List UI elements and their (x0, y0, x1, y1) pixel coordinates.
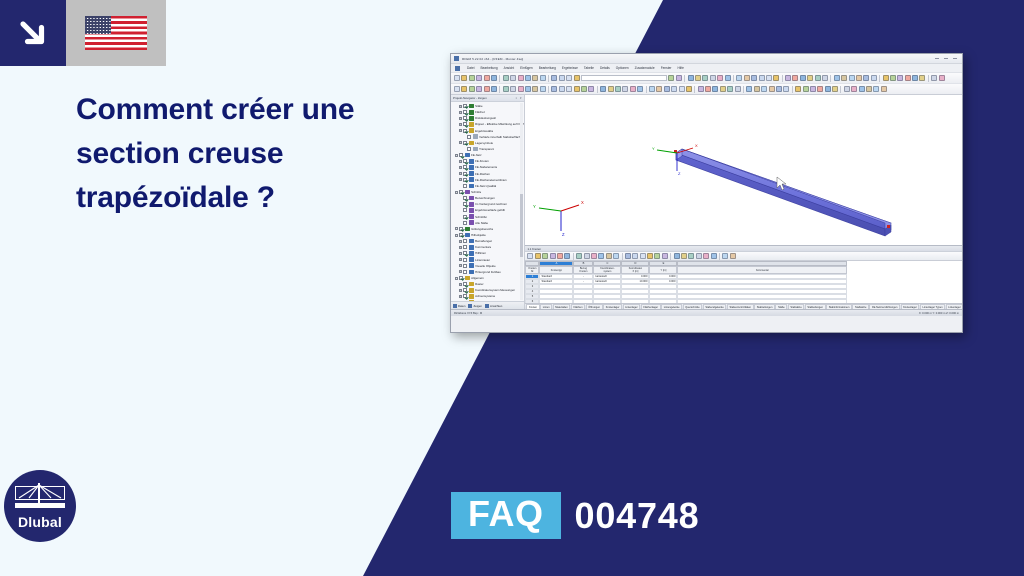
tree-item-icon (469, 288, 474, 293)
tree-expander-icon[interactable]: + (459, 283, 462, 286)
main-toolbar[interactable] (451, 73, 962, 84)
tree-item-icon (469, 282, 474, 287)
toolbar-button[interactable] (751, 75, 757, 81)
toolbar-button[interactable] (668, 75, 674, 81)
toolbar-button[interactable] (676, 75, 682, 81)
tree-checkbox[interactable] (463, 159, 467, 163)
toolbar-button[interactable] (720, 86, 726, 92)
tree-item-label: Koordinatensystem Messungen (475, 288, 515, 292)
toolbar-button[interactable] (810, 86, 816, 92)
toolbar-button[interactable] (566, 86, 572, 92)
tree-expander-icon[interactable]: + (459, 240, 462, 243)
svg-text:X: X (695, 143, 698, 148)
table-tab[interactable]: FE-Netzverdichtungen (869, 304, 900, 309)
toolbar-button[interactable] (841, 75, 847, 81)
tree-checkbox[interactable] (463, 208, 467, 212)
table-tab[interactable]: Stabsätze (788, 304, 805, 309)
toolbar-button[interactable] (608, 86, 614, 92)
tree-checkbox[interactable] (463, 239, 467, 243)
tree-checkbox[interactable] (463, 288, 467, 292)
toolbar-button[interactable] (525, 75, 531, 81)
toolbar-button[interactable] (606, 253, 612, 259)
navigator-scrollbar[interactable] (520, 103, 523, 300)
tree-checkbox[interactable] (463, 215, 467, 219)
toolbar-button[interactable] (535, 253, 541, 259)
toolbar-button[interactable] (491, 75, 497, 81)
table-tab[interactable]: Öffnungen (586, 304, 603, 309)
toolbar-button[interactable] (564, 253, 570, 259)
tree-expander-icon[interactable]: + (459, 160, 462, 163)
toolbar-button[interactable] (712, 86, 718, 92)
toolbar-button[interactable] (844, 86, 850, 92)
tree-checkbox[interactable] (463, 264, 467, 268)
toolbar-button[interactable] (542, 253, 548, 259)
toolbar-button[interactable] (540, 75, 546, 81)
tree-checkbox[interactable] (463, 184, 467, 188)
toolbar-button[interactable] (849, 75, 855, 81)
toolbar-button[interactable] (551, 86, 557, 92)
tree-checkbox[interactable] (463, 104, 467, 108)
close-icon[interactable] (953, 58, 957, 59)
tree-item-icon (469, 214, 474, 219)
table-tabstrip[interactable]: KnotenLinienMaterialienFlächenÖffnungenK… (525, 303, 963, 309)
toolbar-button[interactable] (815, 75, 821, 81)
tree-checkbox[interactable] (463, 258, 467, 262)
menu-item-3[interactable]: Einfügen (520, 66, 533, 70)
tree-checkbox[interactable] (463, 129, 467, 133)
toolbar-button[interactable] (454, 75, 460, 81)
toolbar-button[interactable] (795, 86, 801, 92)
toolbar-button[interactable] (769, 86, 775, 92)
toolbar-button[interactable] (503, 75, 509, 81)
tree-expander-icon[interactable]: + (459, 123, 462, 126)
toolbar-button[interactable] (503, 86, 509, 92)
toolbar-button[interactable] (776, 86, 782, 92)
toolbar-separator (694, 86, 695, 93)
tree-checkbox[interactable] (463, 172, 467, 176)
dlubal-logo[interactable]: Dlubal (4, 470, 76, 542)
toolbar-button[interactable] (484, 75, 490, 81)
us-flag-icon (66, 0, 166, 66)
toolbar-button[interactable] (695, 75, 701, 81)
tree-checkbox[interactable] (459, 190, 463, 194)
toolbar-separator (499, 75, 500, 82)
table-toolbar[interactable] (525, 252, 963, 261)
scrollbar-thumb[interactable] (520, 194, 523, 257)
tree-item-icon (465, 190, 470, 195)
toolbar-button[interactable] (581, 86, 587, 92)
toolbar-button[interactable] (883, 75, 889, 81)
toolbar-button[interactable] (785, 75, 791, 81)
toolbar-button[interactable] (834, 75, 840, 81)
toolbar-button[interactable] (476, 75, 482, 81)
toolbar-button[interactable] (640, 253, 646, 259)
tree-checkbox[interactable] (463, 178, 467, 182)
minimize-icon[interactable] (935, 58, 939, 59)
tree-item-icon (469, 251, 474, 256)
tree-item-label: Achsensysteme (475, 294, 495, 298)
tree-expander-icon[interactable]: + (459, 252, 462, 255)
tree-checkbox[interactable] (463, 110, 467, 114)
toolbar-button[interactable] (832, 86, 838, 92)
toolbar-button[interactable] (822, 75, 828, 81)
toolbar-button[interactable] (897, 75, 903, 81)
menu-item-0[interactable]: Datei (467, 66, 474, 70)
menu-item-7[interactable]: Details (600, 66, 610, 70)
table-tab[interactable]: Stäbe (775, 304, 787, 309)
toolbar-button[interactable] (484, 86, 490, 92)
toolbar-button[interactable] (705, 86, 711, 92)
top-left-badges (0, 0, 166, 66)
toolbar-button[interactable] (679, 86, 685, 92)
toolbar-button[interactable] (615, 86, 621, 92)
svg-text:Y: Y (533, 204, 536, 209)
tree-expander-icon[interactable]: + (459, 258, 462, 261)
toolbar-button[interactable] (527, 253, 533, 259)
toolbar-button[interactable] (761, 86, 767, 92)
tree-checkbox[interactable] (459, 227, 463, 231)
table-tab[interactable]: Liniengelenke (661, 304, 682, 309)
toolbar-button[interactable] (905, 75, 911, 81)
window-titlebar[interactable]: RFEM 5.22.02 x64 - [RFEM - Muster-Faq] (451, 54, 962, 64)
toolbar-button[interactable] (754, 86, 760, 92)
toolbar-button[interactable] (766, 75, 772, 81)
tree-checkbox[interactable] (459, 276, 463, 280)
toolbar-button[interactable] (600, 86, 606, 92)
navigator-tabs[interactable]: DatenZeigenAnsichten (451, 301, 524, 309)
toolbar-button[interactable] (688, 75, 694, 81)
toolbar-button[interactable] (557, 253, 563, 259)
toolbar-button[interactable] (912, 75, 918, 81)
navigator-title: Projekt-Navigator - Zeigen (453, 96, 487, 100)
tree-item-label: Bezeichnungen (475, 196, 495, 200)
data-grid[interactable]: ABCDE KnotenNr.KnotentypBezugKnotenKoord… (525, 261, 963, 303)
toolbar-button[interactable] (717, 75, 723, 81)
toolbar-button[interactable] (881, 86, 887, 92)
tree-checkbox[interactable] (463, 270, 467, 274)
table-tab[interactable]: Linienlager Typen (920, 304, 945, 309)
grid-sub-header-bottom: Y [m] (661, 269, 667, 272)
menu-item-10[interactable]: Fenster (661, 66, 672, 70)
navigator-tree[interactable]: +Stäbe+Flächen+Dickdeckungsoll+Rippen - … (451, 102, 524, 301)
model-canvas[interactable]: Z Y X Z Y X (525, 95, 963, 245)
tree-expander-icon[interactable]: − (455, 191, 458, 194)
window-title: RFEM 5.22.02 x64 - [RFEM - Muster-Faq] (462, 57, 523, 61)
toolbar-button[interactable] (735, 86, 741, 92)
table-tab[interactable]: Stabendgelenke (703, 304, 727, 309)
toolbar-button[interactable] (674, 253, 680, 259)
toolbar-button[interactable] (540, 86, 546, 92)
toolbar-button[interactable] (866, 86, 872, 92)
toolbar-button[interactable] (510, 75, 516, 81)
table-tab[interactable]: Materialien (553, 304, 571, 309)
grid-sub-header: Y [m] (649, 266, 677, 274)
toolbar-button[interactable] (919, 75, 925, 81)
tree-expander-icon[interactable]: − (455, 277, 458, 280)
logo-circle: Dlubal (4, 470, 76, 542)
statusbar: RZ-Ebene XYZ Bsp.: M X: 0.000 m Y: 0.000… (451, 309, 962, 316)
tree-checkbox[interactable] (463, 294, 467, 298)
tree-expander-icon[interactable]: + (459, 178, 462, 181)
tree-item-label: FE-Stabelemente (475, 165, 497, 169)
toolbar-button[interactable] (566, 75, 572, 81)
toolbar-button[interactable] (725, 75, 731, 81)
tree-expander-icon[interactable]: + (459, 141, 462, 144)
tree-item-label: FE-Netz (471, 153, 481, 157)
toolbar-button[interactable] (851, 86, 857, 92)
table-tab[interactable]: Knotenlager (603, 304, 622, 309)
table-panel[interactable]: 1.1 Knoten ABCDE KnotenNr.KnotentypBezug… (525, 245, 963, 309)
navigator-tab[interactable]: Ansichten (485, 304, 502, 308)
toolbar-button[interactable] (518, 86, 524, 92)
tree-checkbox[interactable] (463, 251, 467, 255)
toolbar-button[interactable] (856, 75, 862, 81)
toolbar-button[interactable] (637, 86, 643, 92)
tree-expander-icon[interactable]: + (459, 172, 462, 175)
toolbar-separator (622, 253, 623, 260)
tree-item-icon (473, 134, 478, 139)
tree-item-icon (469, 110, 474, 115)
tree-expander-icon[interactable]: + (459, 129, 462, 132)
tree-item-icon (469, 141, 474, 146)
navigator-tab[interactable]: Zeigen (468, 304, 482, 308)
toolbar-button[interactable] (664, 86, 670, 92)
toolbar-button[interactable] (598, 253, 604, 259)
table-tab[interactable]: Knotenlager (901, 304, 920, 309)
tree-expander-icon[interactable]: + (459, 270, 462, 273)
toolbar-button[interactable] (702, 75, 708, 81)
tree-expander-icon[interactable]: − (455, 234, 458, 237)
tree-checkbox[interactable] (463, 202, 467, 206)
toolbar-button[interactable] (722, 253, 728, 259)
toolbar-button[interactable] (510, 86, 516, 92)
toolbar-button[interactable] (696, 253, 702, 259)
tree-item-icon (469, 196, 474, 201)
tree-checkbox[interactable] (463, 122, 467, 126)
toolbar-button[interactable] (807, 75, 813, 81)
toolbar-button[interactable] (662, 253, 668, 259)
table-tab[interactable]: Stabteilungen (754, 304, 775, 309)
tree-expander-icon[interactable]: + (459, 289, 462, 292)
toolbar-button[interactable] (461, 75, 467, 81)
grid-sub-header: Kommentar (677, 266, 847, 274)
toolbar-button[interactable] (744, 75, 750, 81)
menu-item-8[interactable]: Optionen (616, 66, 629, 70)
tree-item-icon (469, 159, 474, 164)
toolbar-button[interactable] (859, 86, 865, 92)
toolbar-button[interactable] (461, 86, 467, 92)
toolbar-button[interactable] (890, 75, 896, 81)
navigator-close-icon[interactable]: × ▾ (515, 96, 522, 100)
toolbar-button[interactable] (647, 253, 653, 259)
table-tab[interactable]: Stabexzentrizitäten (727, 304, 754, 309)
toolbar-button[interactable] (574, 75, 580, 81)
title-line-2: section creuse (76, 132, 416, 176)
menu-item-9[interactable]: Zusatzmodule (635, 66, 655, 70)
toolbar-button[interactable] (469, 86, 475, 92)
tree-item-icon (469, 184, 474, 189)
tree-expander-icon[interactable]: + (459, 166, 462, 169)
toolbar-button[interactable] (469, 75, 475, 81)
table-tab[interactable]: Flächenlager (641, 304, 661, 309)
toolbar-button[interactable] (727, 86, 733, 92)
tree-checkbox[interactable] (467, 135, 471, 139)
toolbar-button[interactable] (454, 86, 460, 92)
menu-item-1[interactable]: Bearbeitung (480, 66, 497, 70)
arrow-down-right-icon (0, 0, 66, 66)
window-controls[interactable] (935, 58, 959, 59)
status-coords: X: 0.000 m Y: 0.000 m Z: 0.000 m (919, 312, 959, 315)
tree-item-label: FE-Netz-Qualität (475, 184, 496, 188)
toolbar-button[interactable] (476, 86, 482, 92)
toolbar-button[interactable] (491, 86, 497, 92)
grid-rows[interactable]: 1Standard-kartesisch0.0000.0002Standard-… (525, 274, 963, 303)
toolbar-button[interactable] (656, 86, 662, 92)
tree-checkbox[interactable] (463, 196, 467, 200)
toolbar-button[interactable] (711, 253, 717, 259)
tree-checkbox[interactable] (459, 233, 463, 237)
toolbar-button[interactable] (736, 75, 742, 81)
toolbar-button[interactable] (931, 75, 937, 81)
toolbar-button[interactable] (873, 86, 879, 92)
tree-checkbox[interactable] (467, 147, 471, 151)
menu-item-11[interactable]: Hilfe (678, 66, 684, 70)
toolbar-button[interactable] (584, 253, 590, 259)
tree-item-icon (469, 128, 474, 133)
tree-item-icon (469, 263, 474, 268)
toolbar-button[interactable] (632, 253, 638, 259)
tree-checkbox[interactable] (463, 245, 467, 249)
faq-badge: FAQ 004748 (451, 492, 699, 539)
tree-item-icon (469, 220, 474, 225)
menu-item-5[interactable]: Ergebnisse (562, 66, 578, 70)
toolbar-button[interactable] (649, 86, 655, 92)
toolbar-button[interactable] (703, 253, 709, 259)
tree-expander-icon[interactable]: − (455, 227, 458, 230)
tree-expander-icon[interactable]: + (459, 117, 462, 120)
menubar[interactable]: Datei Bearbeitung Ansicht Einfügen Bearb… (451, 64, 962, 73)
toolbar-button[interactable] (532, 86, 538, 92)
svg-text:Y: Y (652, 146, 655, 151)
toolbar-button[interactable] (803, 86, 809, 92)
tree-item-icon (465, 276, 470, 281)
tree-item-icon (469, 257, 474, 262)
tree-item-icon (465, 233, 470, 238)
toolbar-button[interactable] (625, 253, 631, 259)
toolbar-button[interactable] (550, 253, 556, 259)
toolbar-button[interactable] (871, 75, 877, 81)
menu-item-2[interactable]: Ansicht (504, 66, 514, 70)
tree-expander-icon[interactable]: + (459, 105, 462, 108)
toolbar-button[interactable] (817, 86, 823, 92)
table-tab[interactable]: Querschnitte (683, 304, 703, 309)
tree-item-icon (469, 122, 474, 127)
table-tab[interactable]: Flächen (571, 304, 585, 309)
navigator-tab[interactable]: Daten (453, 304, 465, 308)
faq-chip-label: FAQ (451, 492, 561, 539)
rfem-application-window[interactable]: RFEM 5.22.02 x64 - [RFEM - Muster-Faq] D… (450, 53, 963, 333)
title-line-3: trapézoïdale ? (76, 176, 416, 220)
toolbar-button[interactable] (591, 253, 597, 259)
menu-item-4[interactable]: Bearbeitung (539, 66, 556, 70)
toolbar-button[interactable] (622, 86, 628, 92)
table-tab[interactable]: Linienlager (946, 304, 963, 309)
table-tab[interactable]: Stabsätze (852, 304, 869, 309)
toolbar-button[interactable] (532, 75, 538, 81)
toolbar-button[interactable] (783, 86, 789, 92)
toolbar-button[interactable] (698, 86, 704, 92)
toolbar-button[interactable] (792, 75, 798, 81)
tree-item-label: Verläufe innerhalb Staboberfläche (479, 135, 522, 139)
tree-checkbox[interactable] (463, 165, 467, 169)
toolbar-button[interactable] (525, 86, 531, 92)
menu-item-6[interactable]: Tabelle (584, 66, 594, 70)
toolbar-combo-field[interactable] (581, 75, 667, 81)
tree-checkbox[interactable] (463, 141, 467, 145)
toolbar-button[interactable] (759, 75, 765, 81)
toolbar-button[interactable] (551, 75, 557, 81)
tree-item-label: Hilfsobjekte (471, 233, 486, 237)
tree-checkbox[interactable] (463, 221, 467, 225)
svg-text:Z: Z (678, 171, 681, 176)
toolbar-button[interactable] (588, 86, 594, 92)
toolbar-button[interactable] (681, 253, 687, 259)
toolbar-button[interactable] (574, 86, 580, 92)
toolbar-button[interactable] (559, 86, 565, 92)
table-tab[interactable]: Stabteilungen (805, 304, 826, 309)
toolbar-button[interactable] (939, 75, 945, 81)
toolbar-button[interactable] (773, 75, 779, 81)
maximize-icon[interactable] (944, 58, 948, 59)
toolbar-button[interactable] (800, 75, 806, 81)
toolbar-button[interactable] (863, 75, 869, 81)
toolbar-button[interactable] (710, 75, 716, 81)
table-tab[interactable]: Stabinformationen (826, 304, 852, 309)
tree-expander-icon[interactable]: + (459, 264, 462, 267)
tree-checkbox[interactable] (463, 282, 467, 286)
toolbar-button[interactable] (576, 253, 582, 259)
table-tab[interactable]: Knoten (526, 304, 539, 309)
tree-checkbox[interactable] (459, 153, 463, 157)
toolbar-button[interactable] (671, 86, 677, 92)
secondary-toolbar[interactable] (451, 84, 962, 95)
navigator-tree-item[interactable]: +Verborgenes im Hintergrund darstellen (453, 300, 524, 302)
tree-expander-icon[interactable]: + (459, 111, 462, 114)
tree-expander-icon[interactable]: − (455, 154, 458, 157)
toolbar-button[interactable] (654, 253, 660, 259)
grid-sub-headers: KnotenNr.KnotentypBezugKnotenKoordinaten… (525, 266, 963, 274)
toolbar-button[interactable] (518, 75, 524, 81)
tree-expander-icon[interactable]: + (459, 295, 462, 298)
grid-sub-header-bottom: X [m] (633, 270, 639, 273)
tree-expander-icon[interactable]: + (459, 246, 462, 249)
toolbar-separator (597, 86, 598, 93)
navigator-tab-icon (485, 304, 489, 308)
table-tab[interactable]: Linien (540, 304, 552, 309)
toolbar-button[interactable] (746, 86, 752, 92)
toolbar-button[interactable] (559, 75, 565, 81)
table-tab[interactable]: Linienlager (623, 304, 641, 309)
toolbar-button[interactable] (730, 253, 736, 259)
toolbar-separator (684, 75, 685, 82)
toolbar-button[interactable] (825, 86, 831, 92)
toolbar-button[interactable] (688, 253, 694, 259)
toolbar-button[interactable] (686, 86, 692, 92)
toolbar-button[interactable] (630, 86, 636, 92)
tree-checkbox[interactable] (463, 116, 467, 120)
toolbar-button[interactable] (613, 253, 619, 259)
project-navigator-panel[interactable]: Projekt-Navigator - Zeigen × ▾ +Stäbe+Fl… (451, 95, 525, 309)
